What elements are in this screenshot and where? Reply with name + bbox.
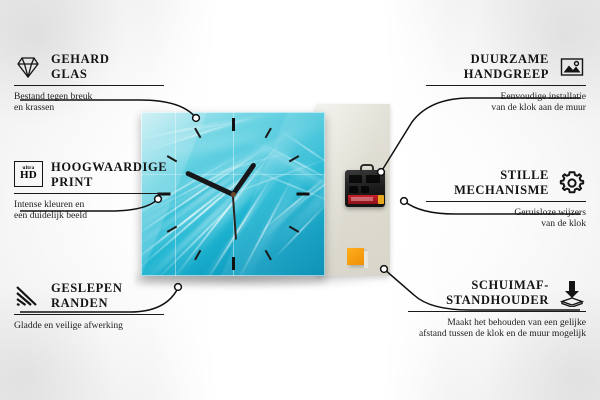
feature-stille-mechanisme: STILLE MECHANISME Geruisloze wijzers van…: [426, 168, 586, 230]
feature-description: Gladde en veilige afwerking: [14, 320, 164, 331]
battery-label: [351, 197, 373, 201]
connector-dot-stille-mechanisme: [401, 198, 408, 205]
feature-title: GESLEPEN RANDEN: [51, 281, 123, 310]
clock-mechanism: [345, 170, 385, 207]
feature-title: STILLE MECHANISME: [454, 168, 549, 197]
divider: [426, 85, 586, 86]
foam-spacer-icon: [558, 279, 586, 307]
feature-geslepen-randen: GESLEPEN RANDEN Gladde en veilige afwerk…: [14, 281, 164, 331]
feature-title: GEHARD GLAS: [51, 52, 109, 81]
divider: [408, 311, 586, 312]
feature-gehard-glas: GEHARD GLAS Bestand tegen breuk en krass…: [14, 52, 164, 114]
feature-title: SCHUIMAF- STANDHOUDER: [446, 278, 549, 307]
glass-clock: [141, 112, 325, 276]
feature-description: Eenvoudige installatie van de klok aan d…: [426, 91, 586, 114]
battery: [348, 195, 382, 204]
mechanism-shaft: [360, 164, 374, 174]
picture-frame-icon: [558, 53, 586, 81]
mechanism-slot: [361, 186, 369, 193]
glass-edge: [141, 112, 325, 276]
mechanism-slot: [349, 186, 358, 193]
ultra-hd-icon-hd-text: HD: [20, 170, 37, 181]
mechanism-slot: [349, 175, 362, 183]
feature-description: Geruisloze wijzers van de klok: [426, 207, 586, 230]
mechanism-slot: [366, 175, 380, 183]
feature-title: DUURZAME HANDGREEP: [464, 52, 549, 81]
ultra-hd-icon: ultra HD: [14, 161, 42, 189]
feature-duurzame-handgreep: DUURZAME HANDGREEP Eenvoudige installati…: [426, 52, 586, 114]
feature-schuimafstandhouder: SCHUIMAF- STANDHOUDER Maakt het behouden…: [408, 278, 586, 340]
product-photo: [141, 104, 390, 284]
divider: [14, 314, 164, 315]
gear-icon: [558, 169, 586, 197]
divider: [14, 193, 164, 194]
divider: [14, 85, 164, 86]
feature-description: Maakt het behouden van een gelijke afsta…: [408, 317, 586, 340]
diamond-icon: [14, 53, 42, 81]
foam-spacer: [347, 248, 364, 265]
feature-description: Intense kleuren en een duidelijk beeld: [14, 199, 164, 222]
divider: [426, 201, 586, 202]
infographic-canvas: GEHARD GLAS Bestand tegen breuk en krass…: [0, 0, 600, 400]
feature-hoogwaardige-print: ultra HD HOOGWAARDIGE PRINT Intense kleu…: [14, 160, 164, 222]
battery-terminal: [378, 195, 384, 204]
beveled-edges-icon: [14, 282, 42, 310]
feature-description: Bestand tegen breuk en krassen: [14, 91, 164, 114]
feature-title: HOOGWAARDIGE PRINT: [51, 160, 167, 189]
